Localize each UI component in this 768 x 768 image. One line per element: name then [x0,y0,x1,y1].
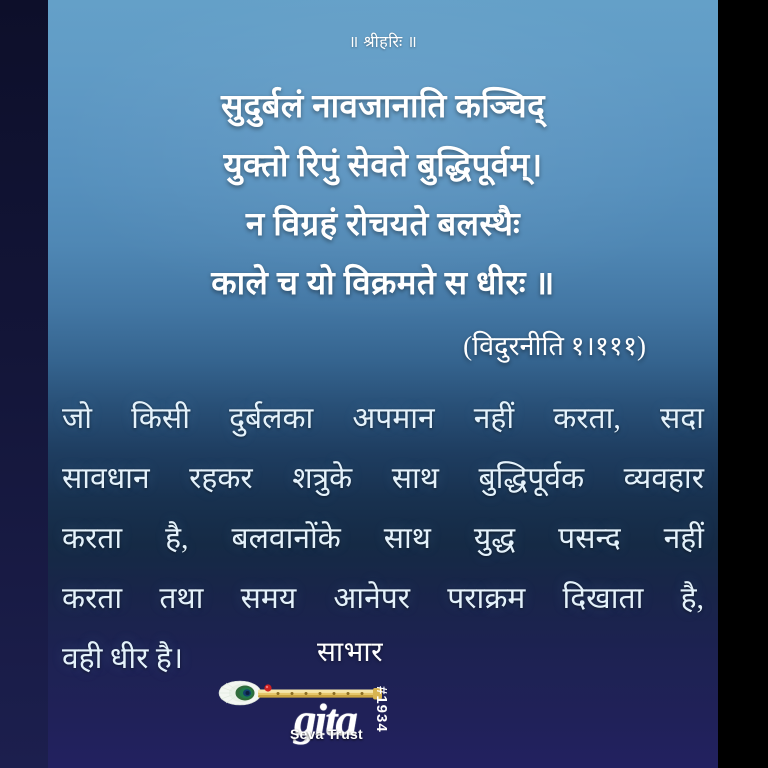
translation-word: नहीं [474,389,514,449]
translation-word: किसी [131,389,190,449]
translation-line-2: सावधानरहकरशत्रुकेसाथबुद्धिपूर्वकव्यवहार [62,449,704,509]
translation-word: नहीं [664,509,704,569]
translation-word: है, [681,569,704,629]
translation-word: है, [165,509,188,569]
translation-word: करता, [553,389,621,449]
translation-word: दुर्बलका [229,389,313,449]
translation-word: अपमान [352,389,434,449]
verse-line-3: न विग्रहं रोचयते बलस्थैः [48,196,718,255]
translation-word: युद्ध [474,509,515,569]
translation-word: साथ [392,449,439,509]
logo-subtitle: Seva Trust [290,726,363,742]
translation-word: पराक्रम [447,569,525,629]
credit-block: साभार [222,632,442,754]
translation-word: रहकर [189,449,253,509]
translation-word: व्यवहार [624,449,704,509]
translation-word: करता [62,509,122,569]
translation-word: शत्रुके [292,449,352,509]
verse-line-2: युक्तो रिपुं सेवते बुद्धिपूर्वम्। [48,137,718,196]
translation-word: आनेपर [333,569,410,629]
verse-line-4: काले च यो विक्रमते स धीरः ॥ [48,255,718,314]
translation-word: जो [62,389,92,449]
translation-word: सावधान [62,449,150,509]
left-border-strip [0,0,48,768]
translation-word: बलवानोंके [231,509,340,569]
translation-word: समय [241,569,297,629]
translation-word: सदा [660,389,704,449]
shloka-poster: ॥ श्रीहरिः ॥ सुदुर्बलं नावजानाति कञ्चिद्… [0,0,768,768]
right-border-strip [718,0,768,768]
translation-line-1: जोकिसीदुर्बलकाअपमाननहींकरता,सदा [62,389,704,449]
verse-line-1: सुदुर्बलं नावजानाति कञ्चिद् [48,78,718,137]
sanskrit-verse: सुदुर्बलं नावजानाति कञ्चिद् युक्तो रिपुं… [48,78,718,314]
translation-word: पसन्द [558,509,621,569]
translation-line-4: करतातथासमयआनेपरपराक्रमदिखाताहै, [62,569,704,629]
invocation-text: ॥ श्रीहरिः ॥ [349,30,418,52]
translation-word: दिखाता [562,569,643,629]
translation-line-3: करताहै,बलवानोंकेसाथयुद्धपसन्दनहीं [62,509,704,569]
translation-word: बुद्धिपूर्वक [478,449,584,509]
translation-word: साथ [384,509,431,569]
translation-word: तथा [159,569,203,629]
translation-word: करता [62,569,122,629]
gita-seva-trust-logo[interactable]: gita Seva Trust #1934 [222,668,432,754]
credit-label: साभार [258,632,442,670]
logo-issue-number: #1934 [373,686,390,733]
verse-citation: (विदुरनीति १।१११) [48,326,718,363]
